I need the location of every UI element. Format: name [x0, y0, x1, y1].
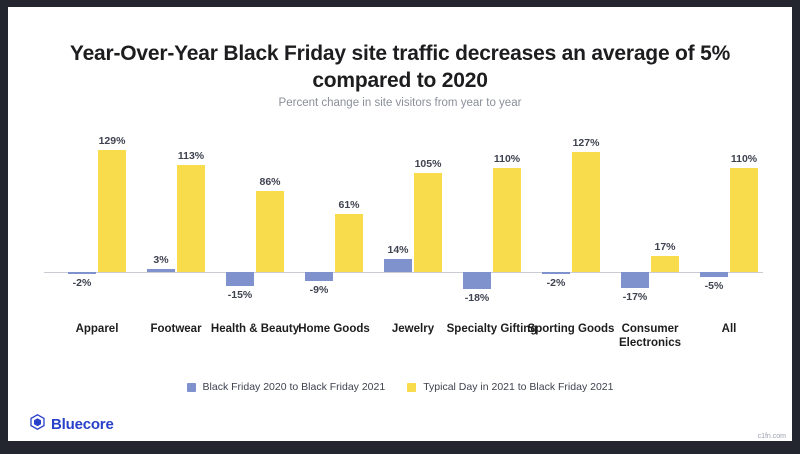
bar-blue[interactable]: [68, 272, 96, 274]
legend-swatch: [407, 383, 416, 392]
bar-value-label: 113%: [161, 150, 221, 162]
bar-value-label: -17%: [605, 291, 665, 303]
bar-value-label: -2%: [526, 277, 586, 289]
legend-item[interactable]: Typical Day in 2021 to Black Friday 2021: [407, 381, 613, 393]
bar-blue[interactable]: [700, 272, 728, 277]
bar-value-label: -15%: [210, 289, 270, 301]
category-label-all: All: [681, 323, 777, 337]
bar-group: -2%129%: [68, 125, 126, 315]
bar-yellow[interactable]: [256, 191, 284, 272]
bar-yellow[interactable]: [414, 173, 442, 272]
legend-item[interactable]: Black Friday 2020 to Black Friday 2021: [187, 381, 386, 393]
bar-value-label: 110%: [477, 153, 537, 165]
bar-value-label: 129%: [82, 135, 142, 147]
bar-yellow[interactable]: [177, 165, 205, 272]
bar-yellow[interactable]: [493, 168, 521, 272]
bar-blue[interactable]: [384, 259, 412, 272]
bar-value-label: 110%: [714, 153, 774, 165]
watermark-text: c1fn.com: [758, 433, 786, 440]
brand-name: Bluecore: [51, 416, 114, 433]
bar-value-label: 127%: [556, 137, 616, 149]
bar-group: 3%113%: [147, 125, 205, 315]
bar-yellow[interactable]: [335, 214, 363, 272]
bar-blue[interactable]: [463, 272, 491, 289]
bar-group: -5%110%: [700, 125, 758, 315]
page-title: Year-Over-Year Black Friday site traffic…: [60, 40, 740, 94]
bar-blue[interactable]: [147, 269, 175, 272]
bar-value-label: -5%: [684, 280, 744, 292]
chart-subtitle: Percent change in site visitors from yea…: [60, 97, 740, 109]
bar-chart-plot: -2%129%3%113%-15%86%-9%61%14%105%-18%110…: [8, 125, 792, 315]
bar-blue[interactable]: [621, 272, 649, 288]
screenshot-frame: Year-Over-Year Black Friday site traffic…: [0, 0, 800, 454]
chart-legend: Black Friday 2020 to Black Friday 2021Ty…: [8, 377, 792, 397]
legend-label: Black Friday 2020 to Black Friday 2021: [203, 381, 386, 393]
bar-value-label: 61%: [319, 199, 379, 211]
hexagon-cube-icon: [30, 414, 45, 435]
bar-value-label: -9%: [289, 284, 349, 296]
bar-value-label: -2%: [52, 277, 112, 289]
bar-group: 14%105%: [384, 125, 442, 315]
bar-blue[interactable]: [542, 272, 570, 274]
bar-group: -18%110%: [463, 125, 521, 315]
bar-group: -15%86%: [226, 125, 284, 315]
bar-value-label: 86%: [240, 176, 300, 188]
bar-group: -9%61%: [305, 125, 363, 315]
legend-swatch: [187, 383, 196, 392]
bar-yellow[interactable]: [730, 168, 758, 272]
bar-value-label: 17%: [635, 241, 695, 253]
chart-card: Year-Over-Year Black Friday site traffic…: [8, 7, 792, 441]
bar-blue[interactable]: [305, 272, 333, 281]
bar-blue[interactable]: [226, 272, 254, 286]
bar-group: -17%17%: [621, 125, 679, 315]
legend-label: Typical Day in 2021 to Black Friday 2021: [423, 381, 613, 393]
bar-yellow[interactable]: [572, 152, 600, 272]
bar-group: -2%127%: [542, 125, 600, 315]
bar-value-label: -18%: [447, 292, 507, 304]
bar-yellow[interactable]: [651, 256, 679, 272]
category-axis-labels: ApparelFootwearHealth & BeautyHome Goods…: [8, 323, 792, 361]
bar-value-label: 105%: [398, 158, 458, 170]
brand-logo: Bluecore: [30, 414, 114, 435]
bar-yellow[interactable]: [98, 150, 126, 272]
